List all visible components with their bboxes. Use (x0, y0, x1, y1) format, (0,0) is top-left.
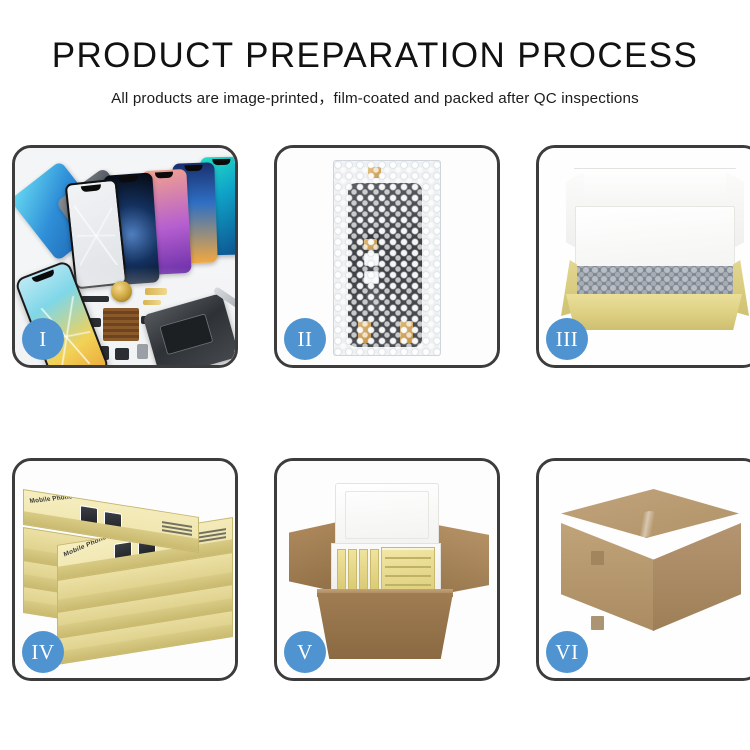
yellow-box-stack (381, 547, 435, 593)
process-step-1[interactable]: I (12, 145, 238, 368)
part-camera-module (115, 348, 129, 360)
gold-coil-part (111, 281, 132, 302)
yellow-box-item (348, 549, 357, 591)
crack-pattern-icon (74, 202, 119, 269)
step-badge-2: II (284, 318, 326, 360)
notch-icon (212, 159, 230, 165)
step-badge-3: III (546, 318, 588, 360)
process-step-6[interactable]: VI (536, 458, 750, 681)
notch-icon (118, 175, 139, 182)
notch-icon (32, 270, 55, 284)
part-gold-flex (145, 288, 167, 295)
part-chip-array (103, 308, 139, 341)
carton-body (317, 593, 453, 659)
process-step-3[interactable]: III (536, 145, 750, 368)
header: PRODUCT PREPARATION PROCESS All products… (0, 0, 750, 108)
notch-icon (185, 165, 203, 172)
yellow-box-item (337, 549, 346, 591)
tape-piece (591, 616, 604, 630)
process-step-5[interactable]: V (274, 458, 500, 681)
box-edge-line (385, 566, 431, 568)
part-strip (81, 296, 109, 302)
process-step-4[interactable]: Mobile Phone Spare Parts (12, 458, 238, 681)
part-metal-bracket (137, 344, 148, 359)
yellow-box-item (370, 549, 379, 591)
box-label-title: Mobile Phone Spare Parts (29, 490, 112, 505)
tape-piece (591, 551, 604, 565)
box-front-panel (566, 294, 742, 330)
notch-icon (154, 172, 173, 179)
carton-right-face (653, 523, 741, 631)
step-badge-5: V (284, 631, 326, 673)
part-gold-flex (143, 300, 161, 305)
foam-cooler-lid (335, 483, 439, 547)
carton-left-face (561, 523, 654, 631)
poster-page: PRODUCT PREPARATION PROCESS All products… (0, 0, 750, 750)
step-badge-1: I (22, 318, 64, 360)
foam-sheet (575, 206, 735, 268)
step-badge-6: VI (546, 631, 588, 673)
box-edge-line (385, 557, 431, 559)
bubble-texture (334, 161, 440, 355)
page-subtitle: All products are image-printed，film-coat… (0, 86, 750, 108)
process-step-2[interactable]: II (274, 145, 500, 368)
page-title: PRODUCT PREPARATION PROCESS (0, 38, 750, 75)
yellow-box-item (359, 549, 368, 591)
bubble-wrap-bag (333, 160, 441, 356)
box-edge-line (385, 575, 431, 577)
notch-icon (81, 184, 102, 192)
process-grid: I II (12, 145, 740, 681)
step-badge-4: IV (22, 631, 64, 673)
box-edge-line (385, 584, 431, 586)
